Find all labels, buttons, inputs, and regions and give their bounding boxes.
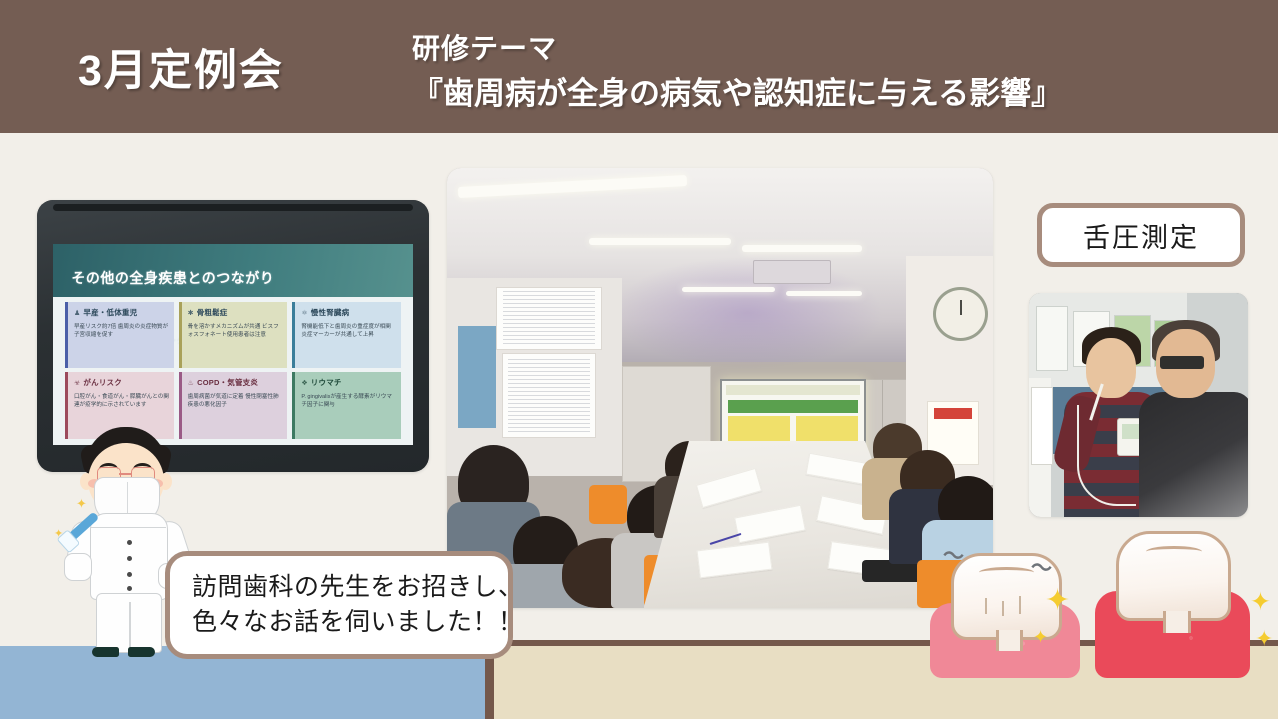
- teeth-illustration-group: 〜 〜 ✦ ✦ ✦ ✦: [925, 528, 1278, 678]
- blue-door: [458, 326, 496, 427]
- tooth-crack: [1002, 601, 1004, 616]
- ceiling-light-glow: [611, 256, 884, 370]
- slide-card: ✱骨粗鬆症 骨を溶かすメカニズムが共通 ビスフォスフォネート使用患者は注意: [179, 302, 288, 368]
- slide-card-body: 歯周病菌が気道に定着 慢性閉塞性肺疾患の悪化因子: [188, 393, 284, 409]
- slide-card-body: 骨を溶かすメカニズムが共通 ビスフォスフォネート使用患者は注意: [188, 323, 284, 339]
- page-header: 3月定例会 研修テーマ 『歯周病が全身の病気や認知症に与える影響』: [0, 0, 1278, 133]
- wall-calendar: [1031, 387, 1053, 465]
- slide-page: 3月定例会 研修テーマ 『歯周病が全身の病気や認知症に与える影響』 その他の全身…: [0, 0, 1278, 719]
- screen-green-band: [728, 400, 859, 413]
- character-hand: [64, 553, 92, 581]
- tooth-fissure: [979, 567, 1034, 578]
- theme-label: 研修テーマ: [412, 27, 557, 67]
- uniform-collar: [90, 513, 166, 528]
- ceiling-light: [589, 238, 731, 245]
- wall-poster: [1036, 306, 1069, 371]
- character-shoe: [92, 647, 119, 657]
- caption-line-1: 訪問歯科の先生をお招きし、: [192, 570, 508, 606]
- page-title: 3月定例会: [78, 36, 284, 98]
- person-head: [1086, 338, 1136, 398]
- person-body: [1139, 392, 1249, 517]
- slide-card-title: ♨COPD・気管支炎: [188, 377, 284, 388]
- uniform-button: [127, 540, 132, 545]
- slide-content: その他の全身疾患とのつながり 歯周病は多くの疾患のリスクファクター ♟早産・低体…: [53, 244, 412, 445]
- ceiling-light: [742, 245, 862, 252]
- ceiling-light: [682, 287, 775, 292]
- tooth-crack: [985, 598, 987, 614]
- label-text: 舌圧測定: [1083, 216, 1199, 255]
- wall-poster: [496, 287, 602, 351]
- wall-poster: [502, 353, 597, 439]
- glasses-bridge: [119, 473, 131, 475]
- tooth-fissure: [1146, 546, 1203, 557]
- seminar-room-photo: [447, 168, 993, 608]
- chair: [589, 485, 627, 525]
- slide-card: ♟早産・低体重児 早産リスク約7倍 歯周炎の炎症物質が子宮収縮を促す: [65, 302, 174, 368]
- slide-title: その他の全身疾患とのつながり: [71, 268, 274, 288]
- baby-icon: ♟: [74, 310, 80, 317]
- slide-card-body: 口腔がん・食道がん・膵臓がんとの関連が疫学的に示されています: [74, 393, 170, 409]
- monitor-top-edge: [53, 204, 414, 211]
- screen-title-band: [726, 385, 859, 396]
- sparkle-icon: ✦: [1250, 590, 1271, 615]
- glasses-icon: [1160, 356, 1204, 369]
- sparkle-icon: ✦: [1255, 628, 1273, 650]
- character-shoe: [128, 647, 155, 657]
- odor-line-icon: 〜: [941, 539, 966, 572]
- tongue-pressure-photo: [1029, 293, 1248, 517]
- theme-value: 『歯周病が全身の病気や認知症に与える影響』: [412, 68, 1062, 113]
- joint-icon: ❖: [301, 380, 307, 387]
- sparkle-icon: ✦: [76, 497, 87, 510]
- cancer-icon: ☣: [74, 380, 80, 387]
- sparkle-icon: ✦: [1045, 586, 1070, 616]
- slide-card-title: ☣がんリスク: [74, 377, 170, 388]
- slide-card-body: P. gingivalisが産生する酵素がリウマチ因子に関与: [301, 393, 397, 409]
- character-legs: [96, 593, 162, 653]
- slide-card-title: ⚛慢性腎臓病: [301, 307, 397, 318]
- slide-card-title: ♟早産・低体重児: [74, 307, 170, 318]
- uniform-button: [127, 586, 132, 591]
- slide-card-title: ✱骨粗鬆症: [188, 307, 284, 318]
- kidney-icon: ⚛: [301, 310, 307, 317]
- uniform-button: [127, 572, 132, 577]
- tooth-root-gap: [1163, 611, 1191, 633]
- tongue-pressure-label: 舌圧測定: [1037, 203, 1245, 267]
- uniform-button: [127, 556, 132, 561]
- ceiling-light: [786, 291, 862, 296]
- slide-card: ❖リウマチ P. gingivalisが産生する酵素がリウマチ因子に関与: [292, 372, 401, 438]
- bone-icon: ✱: [188, 310, 194, 317]
- tooth-crack: [1019, 596, 1021, 614]
- poster-lines: [508, 359, 590, 433]
- air-conditioner: [753, 260, 831, 284]
- slide-card-title: ❖リウマチ: [301, 377, 397, 388]
- slide-card-body: 腎機能低下と歯周炎の重症度が相関 炎症マーカーが共通して上昇: [301, 323, 397, 339]
- slide-card-grid: ♟早産・低体重児 早産リスク約7倍 歯周炎の炎症物質が子宮収縮を促す ✱骨粗鬆症…: [65, 302, 401, 439]
- odor-line-icon: 〜: [1029, 551, 1054, 584]
- slide-card: ⚛慢性腎臓病 腎機能低下と歯周炎の重症度が相関 炎症マーカーが共通して上昇: [292, 302, 401, 368]
- caption-box: 訪問歯科の先生をお招きし、 色々なお話を伺いました！！: [165, 551, 513, 659]
- tooth-crown: [1116, 531, 1231, 621]
- poster-lines: [503, 291, 594, 345]
- caption-line-2: 色々なお話を伺いました！！: [192, 605, 508, 641]
- tooth-root-gap: [996, 630, 1023, 651]
- wall-clock-icon: [933, 287, 988, 341]
- sparkle-icon: ✦: [1033, 628, 1048, 646]
- slide-card-body: 早産リスク約7倍 歯周炎の炎症物質が子宮収縮を促す: [74, 323, 170, 339]
- healthy-tooth-illustration: [1090, 528, 1255, 678]
- lung-icon: ♨: [188, 380, 194, 387]
